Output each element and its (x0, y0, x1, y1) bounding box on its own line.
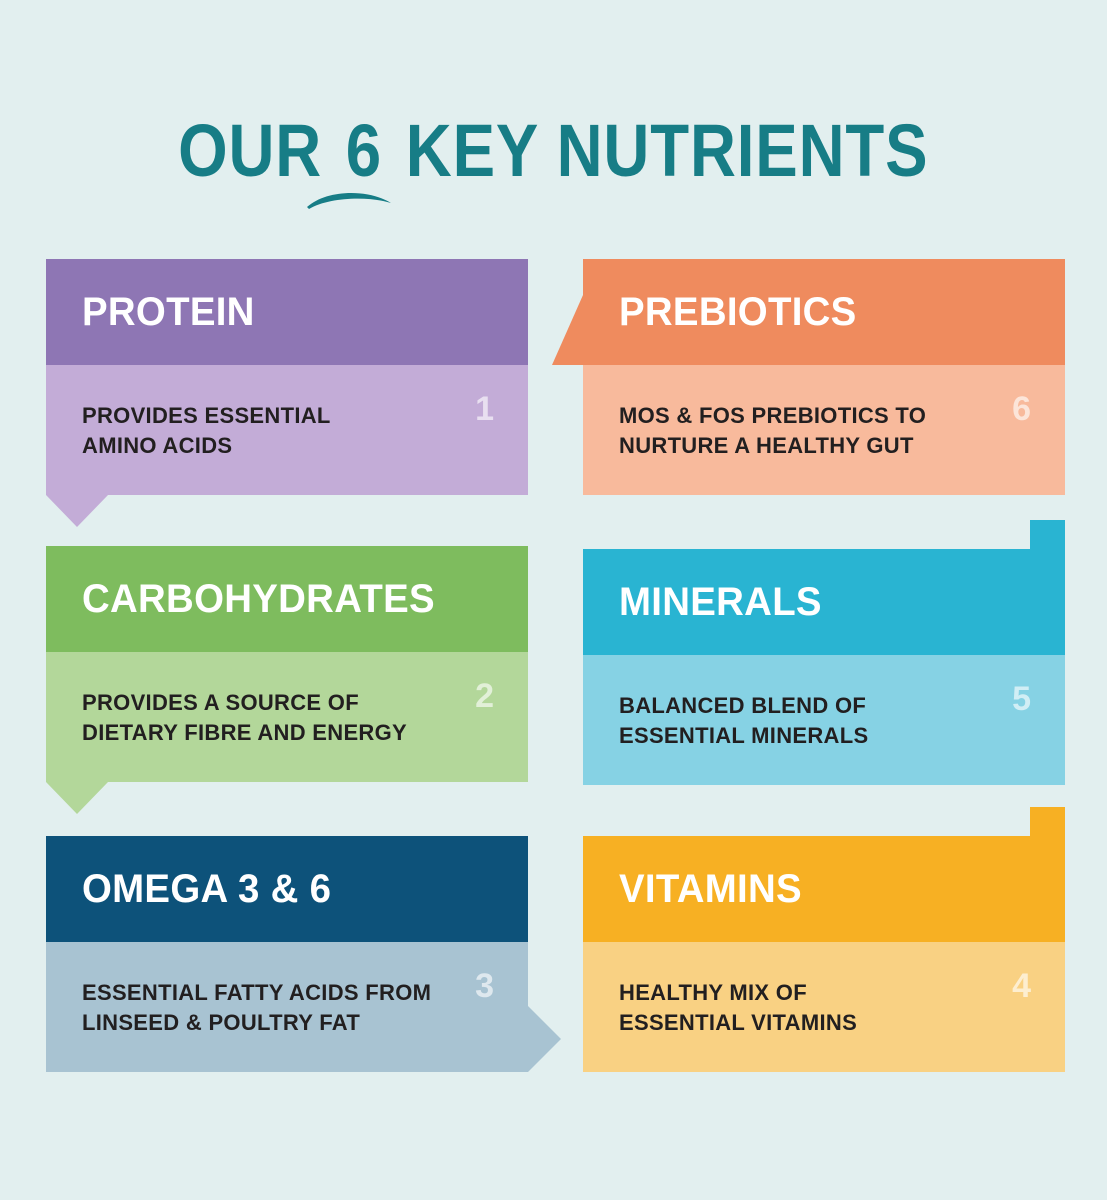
card-tail-up-block-minerals (1030, 520, 1065, 549)
card-tail-right-omega (528, 1006, 561, 1072)
card-header-prebiotics: PREBIOTICS (583, 259, 1065, 365)
card-body-carbohydrates: PROVIDES A SOURCE OF DIETARY FIBRE AND E… (46, 652, 528, 782)
card-tail-up-block-vitamins (1030, 807, 1065, 836)
card-number-vitamins: 4 (1012, 968, 1031, 1004)
card-description-carbohydrates: PROVIDES A SOURCE OF DIETARY FIBRE AND E… (82, 690, 407, 745)
card-tail-down-protein (46, 495, 108, 527)
nutrient-card-omega[interactable]: OMEGA 3 & 6 ESSENTIAL FATTY ACIDS FROM L… (46, 836, 528, 1072)
card-title-protein: PROTEIN (82, 291, 255, 333)
nutrient-card-carbohydrates[interactable]: CARBOHYDRATES PROVIDES A SOURCE OF DIETA… (46, 546, 528, 782)
card-number-minerals: 5 (1012, 681, 1031, 717)
card-number-prebiotics: 6 (1012, 391, 1031, 427)
nutrient-card-vitamins[interactable]: VITAMINS HEALTHY MIX OF ESSENTIAL VITAMI… (583, 836, 1065, 1072)
card-number-omega: 3 (475, 968, 494, 1004)
card-title-minerals: MINERALS (619, 581, 822, 623)
card-header-vitamins: VITAMINS (583, 836, 1065, 942)
card-tail-left-prebiotics (552, 259, 583, 365)
card-tail-up-minerals (1033, 520, 1065, 549)
card-body-prebiotics: MOS & FOS PREBIOTICS TO NURTURE A HEALTH… (583, 365, 1065, 495)
card-description-prebiotics: MOS & FOS PREBIOTICS TO NURTURE A HEALTH… (619, 403, 926, 458)
card-description-vitamins: HEALTHY MIX OF ESSENTIAL VITAMINS (619, 980, 857, 1035)
card-header-omega: OMEGA 3 & 6 (46, 836, 528, 942)
card-body-omega: ESSENTIAL FATTY ACIDS FROM LINSEED & POU… (46, 942, 528, 1072)
card-tail-down-carbohydrates (46, 782, 108, 814)
card-tail-up-vitamins (1033, 807, 1065, 836)
card-header-protein: PROTEIN (46, 259, 528, 365)
nutrient-card-prebiotics[interactable]: PREBIOTICS MOS & FOS PREBIOTICS TO NURTU… (583, 259, 1065, 495)
card-number-protein: 1 (475, 391, 494, 427)
card-body-vitamins: HEALTHY MIX OF ESSENTIAL VITAMINS 4 (583, 942, 1065, 1072)
nutrient-card-grid: PROTEIN PROVIDES ESSENTIAL AMINO ACIDS 1… (0, 0, 1107, 1200)
nutrient-card-minerals[interactable]: MINERALS BALANCED BLEND OF ESSENTIAL MIN… (583, 549, 1065, 785)
card-description-minerals: BALANCED BLEND OF ESSENTIAL MINERALS (619, 693, 868, 748)
card-body-minerals: BALANCED BLEND OF ESSENTIAL MINERALS 5 (583, 655, 1065, 785)
card-title-prebiotics: PREBIOTICS (619, 291, 857, 333)
card-description-omega: ESSENTIAL FATTY ACIDS FROM LINSEED & POU… (82, 980, 431, 1035)
card-number-carbohydrates: 2 (475, 678, 494, 714)
card-title-carbohydrates: CARBOHYDRATES (82, 578, 435, 620)
card-header-carbohydrates: CARBOHYDRATES (46, 546, 528, 652)
card-description-protein: PROVIDES ESSENTIAL AMINO ACIDS (82, 403, 331, 458)
card-body-protein: PROVIDES ESSENTIAL AMINO ACIDS 1 (46, 365, 528, 495)
card-header-minerals: MINERALS (583, 549, 1065, 655)
card-title-vitamins: VITAMINS (619, 868, 802, 910)
nutrient-card-protein[interactable]: PROTEIN PROVIDES ESSENTIAL AMINO ACIDS 1 (46, 259, 528, 495)
card-title-omega: OMEGA 3 & 6 (82, 868, 331, 910)
